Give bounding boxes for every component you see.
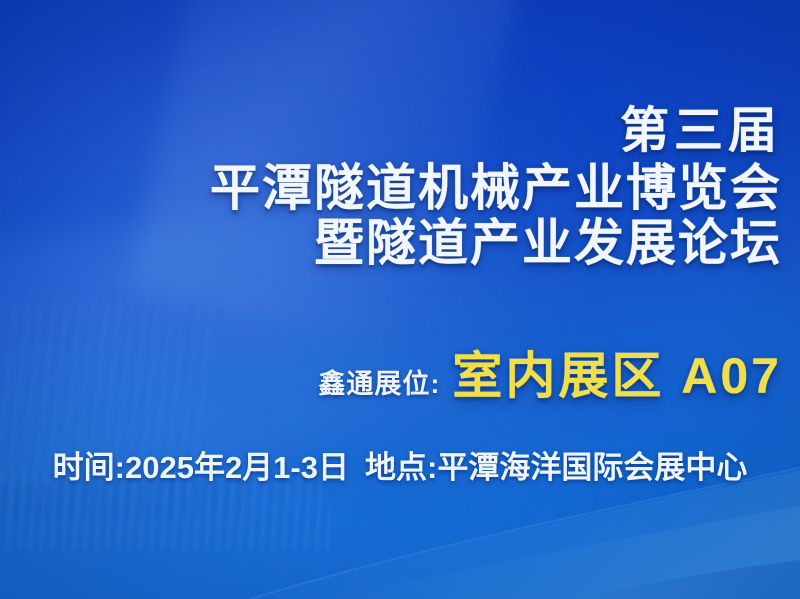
event-venue: 地点:平潭海洋国际会展中心 — [365, 442, 747, 487]
title-line-2: 平潭隧道机械产业博览会 — [210, 162, 782, 215]
title-line-1: 第三届 — [210, 106, 782, 158]
exhibition-banner-poster: 第三届 平潭隧道机械产业博览会 暨隧道产业发展论坛 鑫通展位: 室内展区 A07… — [0, 0, 800, 599]
event-date: 时间:2025年2月1-3日 — [53, 442, 349, 487]
booth-info-row: 鑫通展位: 室内展区 A07 — [318, 336, 782, 408]
booth-label: 鑫通展位: — [318, 362, 440, 401]
event-details-row: 时间:2025年2月1-3日 地点:平潭海洋国际会展中心 — [0, 442, 800, 487]
booth-number: 室内展区 A07 — [452, 336, 782, 408]
poster-title-block: 第三届 平潭隧道机械产业博览会 暨隧道产业发展论坛 — [210, 106, 782, 270]
title-line-3: 暨隧道产业发展论坛 — [210, 217, 782, 270]
poster-content: 第三届 平潭隧道机械产业博览会 暨隧道产业发展论坛 鑫通展位: 室内展区 A07… — [0, 0, 800, 599]
